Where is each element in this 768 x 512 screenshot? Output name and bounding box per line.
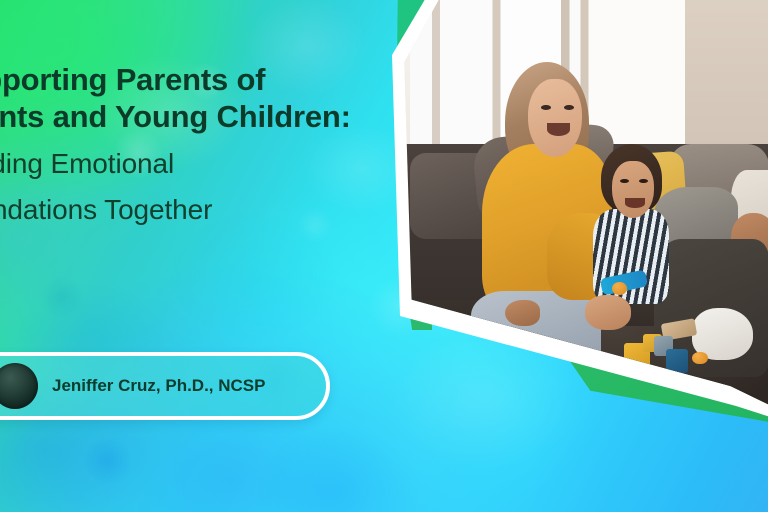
slide-canvas: Supporting Parents of Infants and Young … <box>0 0 768 512</box>
title-block: Supporting Parents of Infants and Young … <box>0 62 364 227</box>
photo-child-eye <box>639 179 648 183</box>
avatar-photo-icon <box>0 363 38 409</box>
author-name: Jeniffer Cruz, Ph.D., NCSP <box>52 376 265 396</box>
photo-child-eye <box>620 179 629 183</box>
photo-child-smile <box>625 198 644 208</box>
photo-woman-face <box>528 79 581 157</box>
photo-woman-smile <box>547 123 570 136</box>
author-badge: Jeniffer Cruz, Ph.D., NCSP <box>0 352 330 420</box>
photo-bare-foot <box>505 300 539 326</box>
page-subtitle-line-2: Foundations Together <box>0 193 364 227</box>
page-title-line-2: Infants and Young Children: <box>0 99 364 136</box>
photo-child-hand <box>585 295 631 330</box>
page-title-line-1: Supporting Parents of <box>0 62 364 99</box>
photo-toy-orange-ball <box>692 352 707 365</box>
page-subtitle-line-1: Building Emotional <box>0 147 364 181</box>
photo-child-face <box>612 161 654 217</box>
